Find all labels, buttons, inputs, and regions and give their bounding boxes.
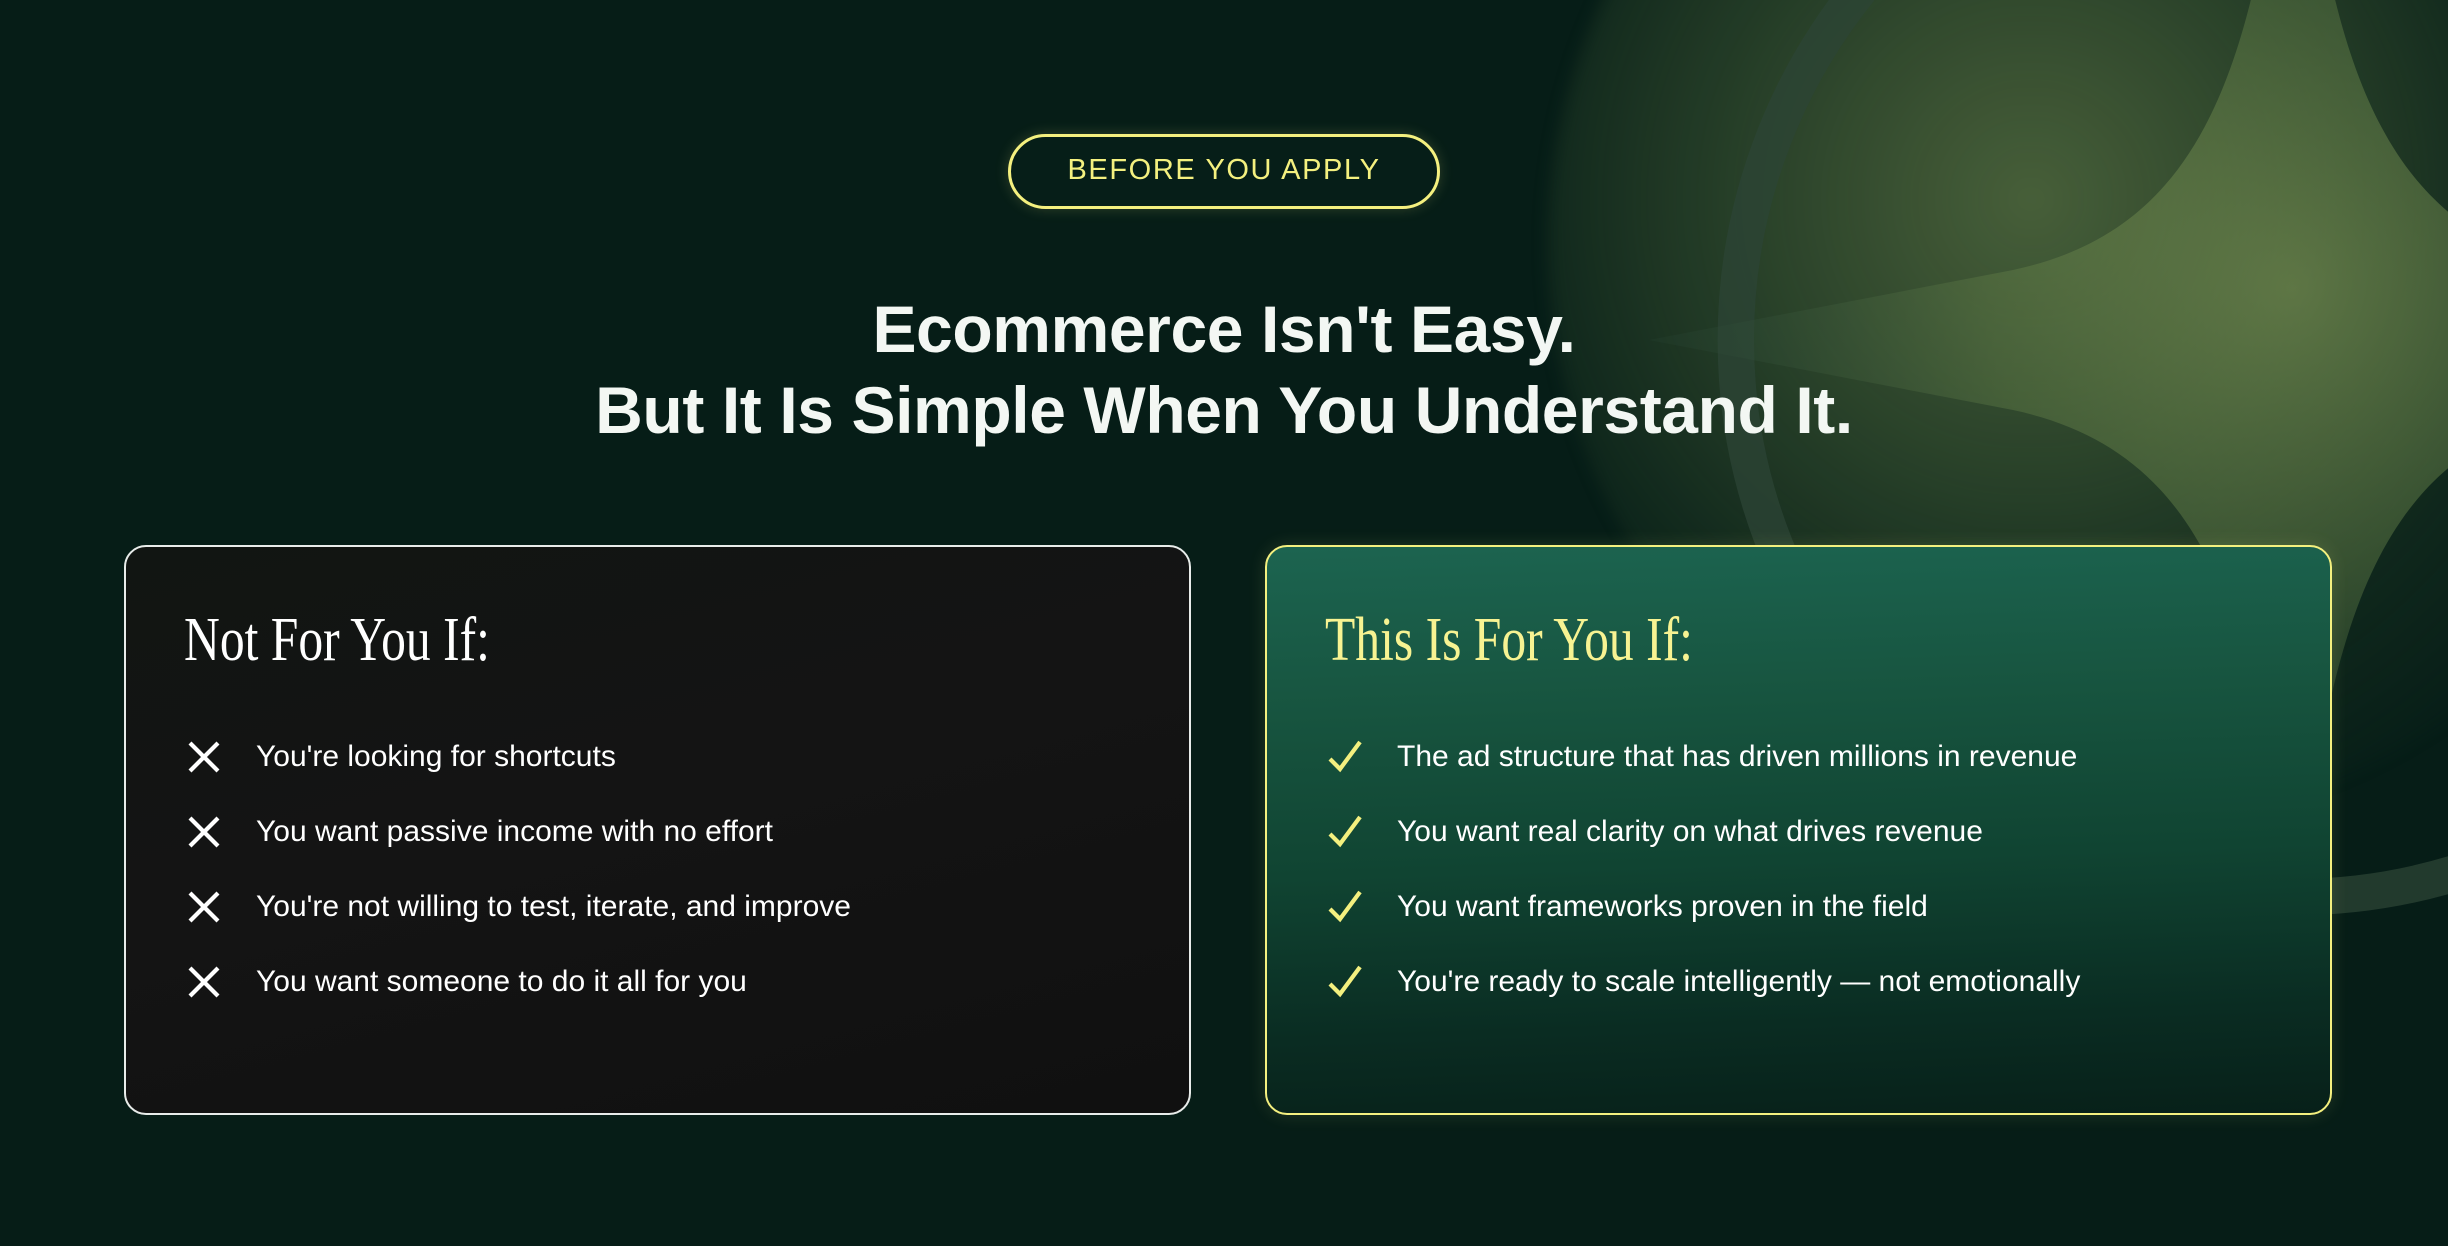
comparison-cards: Not For You If: You're looking for short… <box>124 545 2332 1115</box>
page-root: BEFORE YOU APPLY Ecommerce Isn't Easy. B… <box>0 0 2448 1246</box>
card-title-not-for-you: Not For You If: <box>184 609 942 671</box>
card-this-is-for-you: This Is For You If: The ad structure tha… <box>1265 545 2332 1115</box>
list-item: You're not willing to test, iterate, and… <box>184 869 1131 944</box>
list-this-is-for-you: The ad structure that has driven million… <box>1325 719 2272 1019</box>
headline-line-2: But It Is Simple When You Understand It. <box>0 370 2448 451</box>
list-item-label: You're not willing to test, iterate, and… <box>256 889 851 925</box>
x-icon <box>184 737 224 777</box>
x-icon <box>184 887 224 927</box>
list-item-label: The ad structure that has driven million… <box>1397 739 2077 775</box>
check-icon <box>1325 887 1365 927</box>
x-icon <box>184 812 224 852</box>
list-item: You want passive income with no effort <box>184 794 1131 869</box>
headline-line-1: Ecommerce Isn't Easy. <box>0 289 2448 370</box>
check-icon <box>1325 962 1365 1002</box>
list-item-label: You want real clarity on what drives rev… <box>1397 814 1983 850</box>
list-item-label: You're looking for shortcuts <box>256 739 616 775</box>
list-item-label: You want frameworks proven in the field <box>1397 889 1928 925</box>
check-icon <box>1325 737 1365 777</box>
check-icon <box>1325 812 1365 852</box>
page-title: Ecommerce Isn't Easy. But It Is Simple W… <box>0 289 2448 450</box>
card-not-for-you: Not For You If: You're looking for short… <box>124 545 1191 1115</box>
list-item: You're looking for shortcuts <box>184 719 1131 794</box>
badge-row: BEFORE YOU APPLY <box>0 0 2448 209</box>
x-icon <box>184 962 224 1002</box>
list-item: You want frameworks proven in the field <box>1325 869 2272 944</box>
before-you-apply-badge[interactable]: BEFORE YOU APPLY <box>1008 134 1439 209</box>
list-item: You're ready to scale intelligently — no… <box>1325 944 2272 1019</box>
list-item-label: You want someone to do it all for you <box>256 964 747 1000</box>
list-not-for-you: You're looking for shortcuts You want pa… <box>184 719 1131 1019</box>
list-item: The ad structure that has driven million… <box>1325 719 2272 794</box>
list-item: You want someone to do it all for you <box>184 944 1131 1019</box>
list-item-label: You're ready to scale intelligently — no… <box>1397 964 2080 1000</box>
list-item: You want real clarity on what drives rev… <box>1325 794 2272 869</box>
card-title-this-is-for-you: This Is For You If: <box>1325 609 2083 671</box>
list-item-label: You want passive income with no effort <box>256 814 773 850</box>
